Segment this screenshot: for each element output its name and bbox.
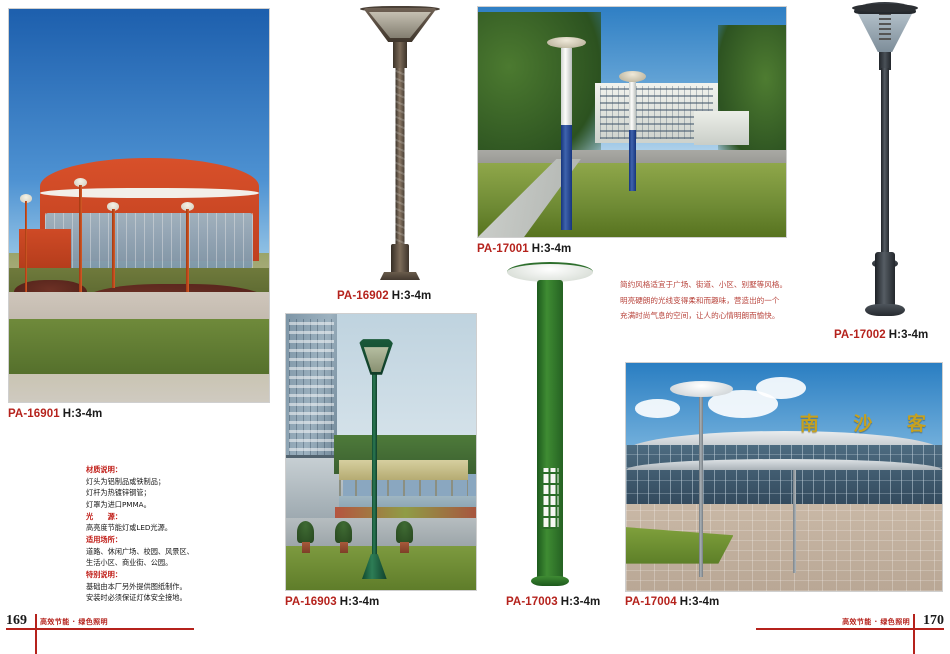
lamp-lower-blue-section [561, 125, 571, 230]
product-label-pa-17002: PA-17002H:3-4m [834, 329, 928, 341]
footer-left: 169 高效节能 · 绿色照明 [0, 608, 200, 654]
background-lamp-1 [79, 178, 82, 292]
spec-heading-lightsource: 光 源： [86, 511, 236, 523]
product-size: H:3-4m [63, 408, 103, 420]
lawn-strip [9, 319, 269, 374]
catalog-spread: PA-16901H:3-4m PA-16902H:3-4m [0, 0, 950, 654]
spec-heading-application: 适用场所： [86, 534, 236, 546]
product-size: H:3-4m [561, 596, 601, 608]
product-size: H:3-4m [532, 243, 572, 255]
description-line: 简约风格适宜于广场、街道、小区、别墅等风格。 [620, 277, 820, 293]
product-size: H:3-4m [680, 596, 720, 608]
background-lamp-3 [112, 202, 115, 288]
planter-pot-1 [297, 521, 314, 543]
lamp-column-green [537, 280, 563, 580]
lamp-post-blue-far [629, 71, 636, 191]
product-label-pa-17003: PA-17003H:3-4m [506, 596, 600, 608]
lamp-foot-column [391, 244, 409, 274]
lamp-neck-collar [393, 42, 407, 68]
building-glass-facade [45, 213, 253, 268]
lamp-lower-blue-section [629, 130, 636, 191]
footer-right: 170 高效节能 · 绿色照明 [750, 608, 950, 654]
background-lamp-post [793, 470, 796, 573]
footer-slogan: 高效节能 · 绿色照明 [842, 617, 910, 627]
product-code: PA-16901 [8, 408, 60, 420]
product-label-pa-17001: PA-17001H:3-4m [477, 243, 571, 255]
product-label-pa-16903: PA-16903H:3-4m [285, 596, 379, 608]
office-tower [286, 314, 337, 474]
planter-pot-3 [396, 521, 413, 543]
product-code: PA-17001 [477, 243, 529, 255]
spec-line: 基础由本厂另外提供图纸制作。 [86, 581, 236, 593]
product-size: H:3-4m [889, 329, 929, 341]
product-code: PA-17002 [834, 329, 886, 341]
lamp-pole-green [372, 369, 377, 568]
terminal-glass-facade [626, 445, 942, 507]
product-photo-pa-17001 [477, 6, 787, 238]
spec-line: 灯杆为热镀锌钢管； [86, 487, 236, 499]
terminal-signage: 南 沙 客 [800, 409, 940, 436]
background-lamp-2 [25, 194, 28, 292]
paved-walkway [286, 518, 476, 548]
lamp-pole-grey [699, 390, 704, 577]
footer-slogan: 高效节能 · 绿色照明 [40, 617, 108, 627]
lamp-disc-shade [547, 37, 586, 48]
page-number-left: 169 [6, 613, 27, 629]
lamp-base-plate [380, 272, 420, 280]
description-line: 充满时尚气息的空间，让人的心情明朗而愉快。 [620, 308, 820, 324]
lamp-upper-white-section [561, 48, 571, 125]
description-paragraph: 简约风格适宜于广场、街道、小区、别墅等风格。 明亮硬朗的光线变得柔和而趣味，营造… [620, 277, 820, 324]
pergola-walkway [339, 460, 468, 479]
spec-line: 高亮度节能灯或LED光源。 [86, 522, 236, 534]
product-label-pa-16901: PA-16901H:3-4m [8, 408, 102, 420]
planter-pot-2 [335, 521, 352, 543]
spec-line: 灯头为铝制品或铁制品； [86, 476, 236, 488]
building-band [40, 188, 258, 198]
spec-heading-notice: 特别说明： [86, 569, 236, 581]
product-code: PA-16902 [337, 290, 389, 302]
lamp-base-ring [531, 576, 569, 586]
lamp-base-column [875, 252, 895, 308]
product-photo-pa-16903 [285, 313, 477, 591]
lamp-post-blue-near [561, 37, 571, 230]
specification-block: 材质说明： 灯头为铝制品或铁制品； 灯杆为热镀锌钢管； 灯罩为进口PMMA。 光… [86, 464, 236, 604]
product-cutout-pa-17003 [495, 258, 605, 592]
product-size: H:3-4m [392, 290, 432, 302]
spec-line: 道路、休闲广场、校园、风景区、 [86, 546, 236, 558]
lamp-disc-dome [507, 262, 593, 282]
lamp-ground-plate [865, 304, 905, 316]
lamp-lantern-glass [855, 8, 915, 52]
description-line: 明亮硬朗的光线变得柔和而趣味，营造出的一个 [620, 293, 820, 309]
lamp-upper-white-section [629, 82, 636, 130]
product-photo-pa-16901 [8, 8, 270, 403]
product-photo-pa-17004: 南 沙 客 [625, 362, 943, 592]
background-lamp-4 [186, 202, 189, 292]
footer-tick [35, 614, 37, 654]
spec-line: 生活小区、商业街、公园。 [86, 557, 236, 569]
lamp-rim [852, 4, 918, 12]
product-label-pa-16902: PA-16902H:3-4m [337, 290, 431, 302]
product-label-pa-17004: PA-17004H:3-4m [625, 596, 719, 608]
lamp-pole [881, 68, 889, 258]
cloud-3 [635, 399, 679, 417]
tree-row-left [478, 12, 601, 168]
office-building-annex [694, 111, 749, 146]
spec-heading-material: 材质说明： [86, 464, 236, 476]
product-cutout-pa-17002 [825, 2, 945, 320]
product-size: H:3-4m [340, 596, 380, 608]
product-code: PA-17004 [625, 596, 677, 608]
spec-line: 安装时必须保证灯体安全接地。 [86, 592, 236, 604]
product-code: PA-17003 [506, 596, 558, 608]
footer-rule [756, 628, 944, 630]
product-code: PA-16903 [285, 596, 337, 608]
lamp-pole-twisted [396, 68, 405, 248]
page-number-right: 170 [923, 613, 944, 629]
spec-line: 灯罩为进口PMMA。 [86, 499, 236, 511]
footer-tick [913, 614, 915, 654]
lamp-grid-window [542, 468, 559, 528]
product-cutout-pa-16902 [335, 4, 465, 284]
